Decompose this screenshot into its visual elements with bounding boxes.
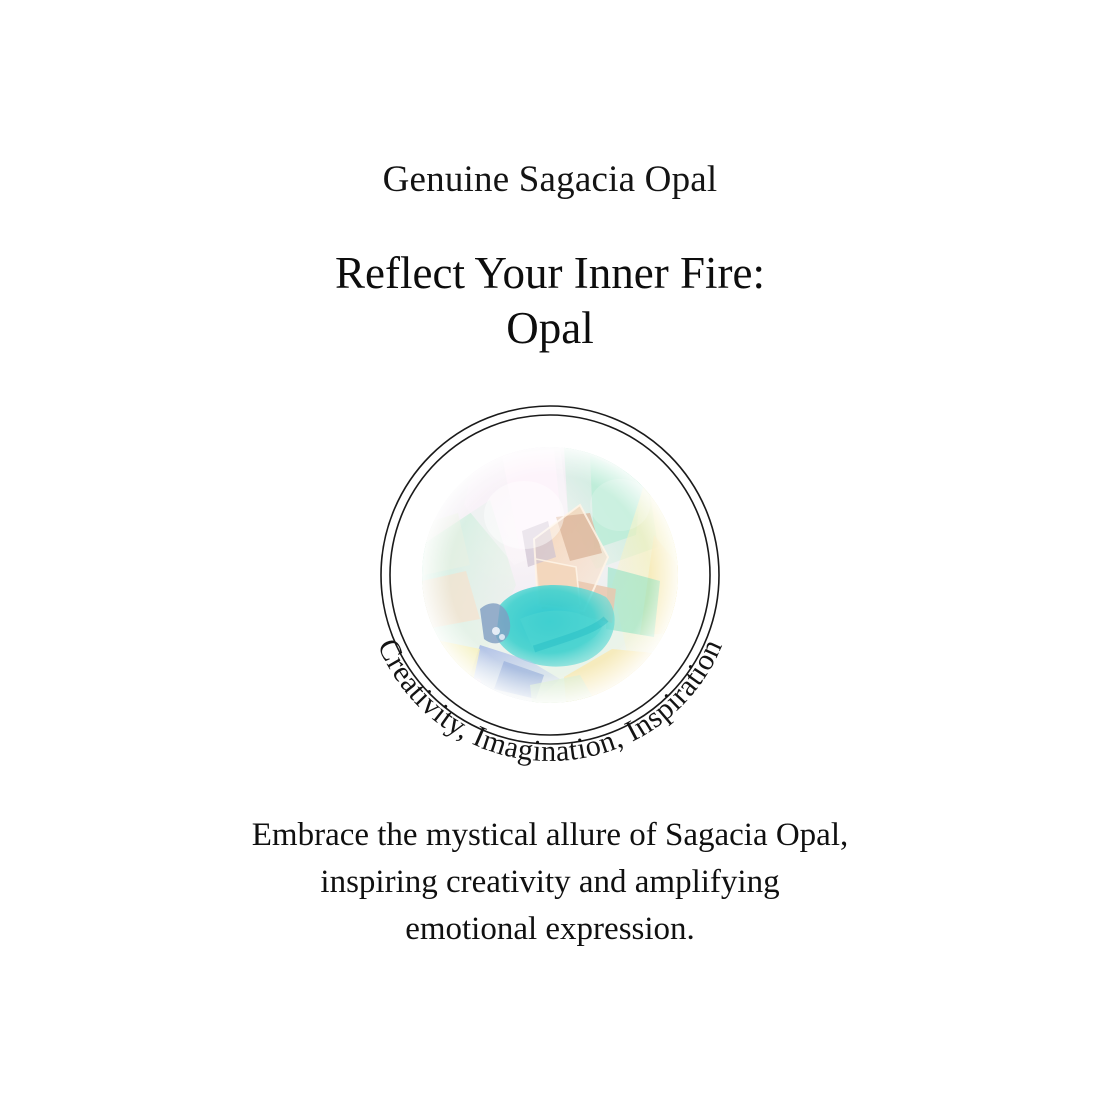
page-title: Reflect Your Inner Fire: Opal [0, 246, 1100, 356]
product-description-line-1: Embrace the mystical allure of Sagacia O… [0, 812, 1100, 859]
product-eyebrow-text: Genuine Sagacia Opal [0, 158, 1100, 202]
product-description: Embrace the mystical allure of Sagacia O… [0, 812, 1100, 953]
product-card: Genuine Sagacia Opal Reflect Your Inner … [0, 0, 1100, 1100]
product-description-line-2: inspiring creativity and amplifying [0, 859, 1100, 906]
opal-gemstone-image [422, 447, 678, 703]
emblem-svg: Creativity, Imagination, Inspiration [350, 375, 750, 775]
page-title-line-1: Reflect Your Inner Fire: [0, 246, 1100, 301]
product-description-line-3: emotional expression. [0, 906, 1100, 953]
page-title-line-2: Opal [0, 301, 1100, 356]
